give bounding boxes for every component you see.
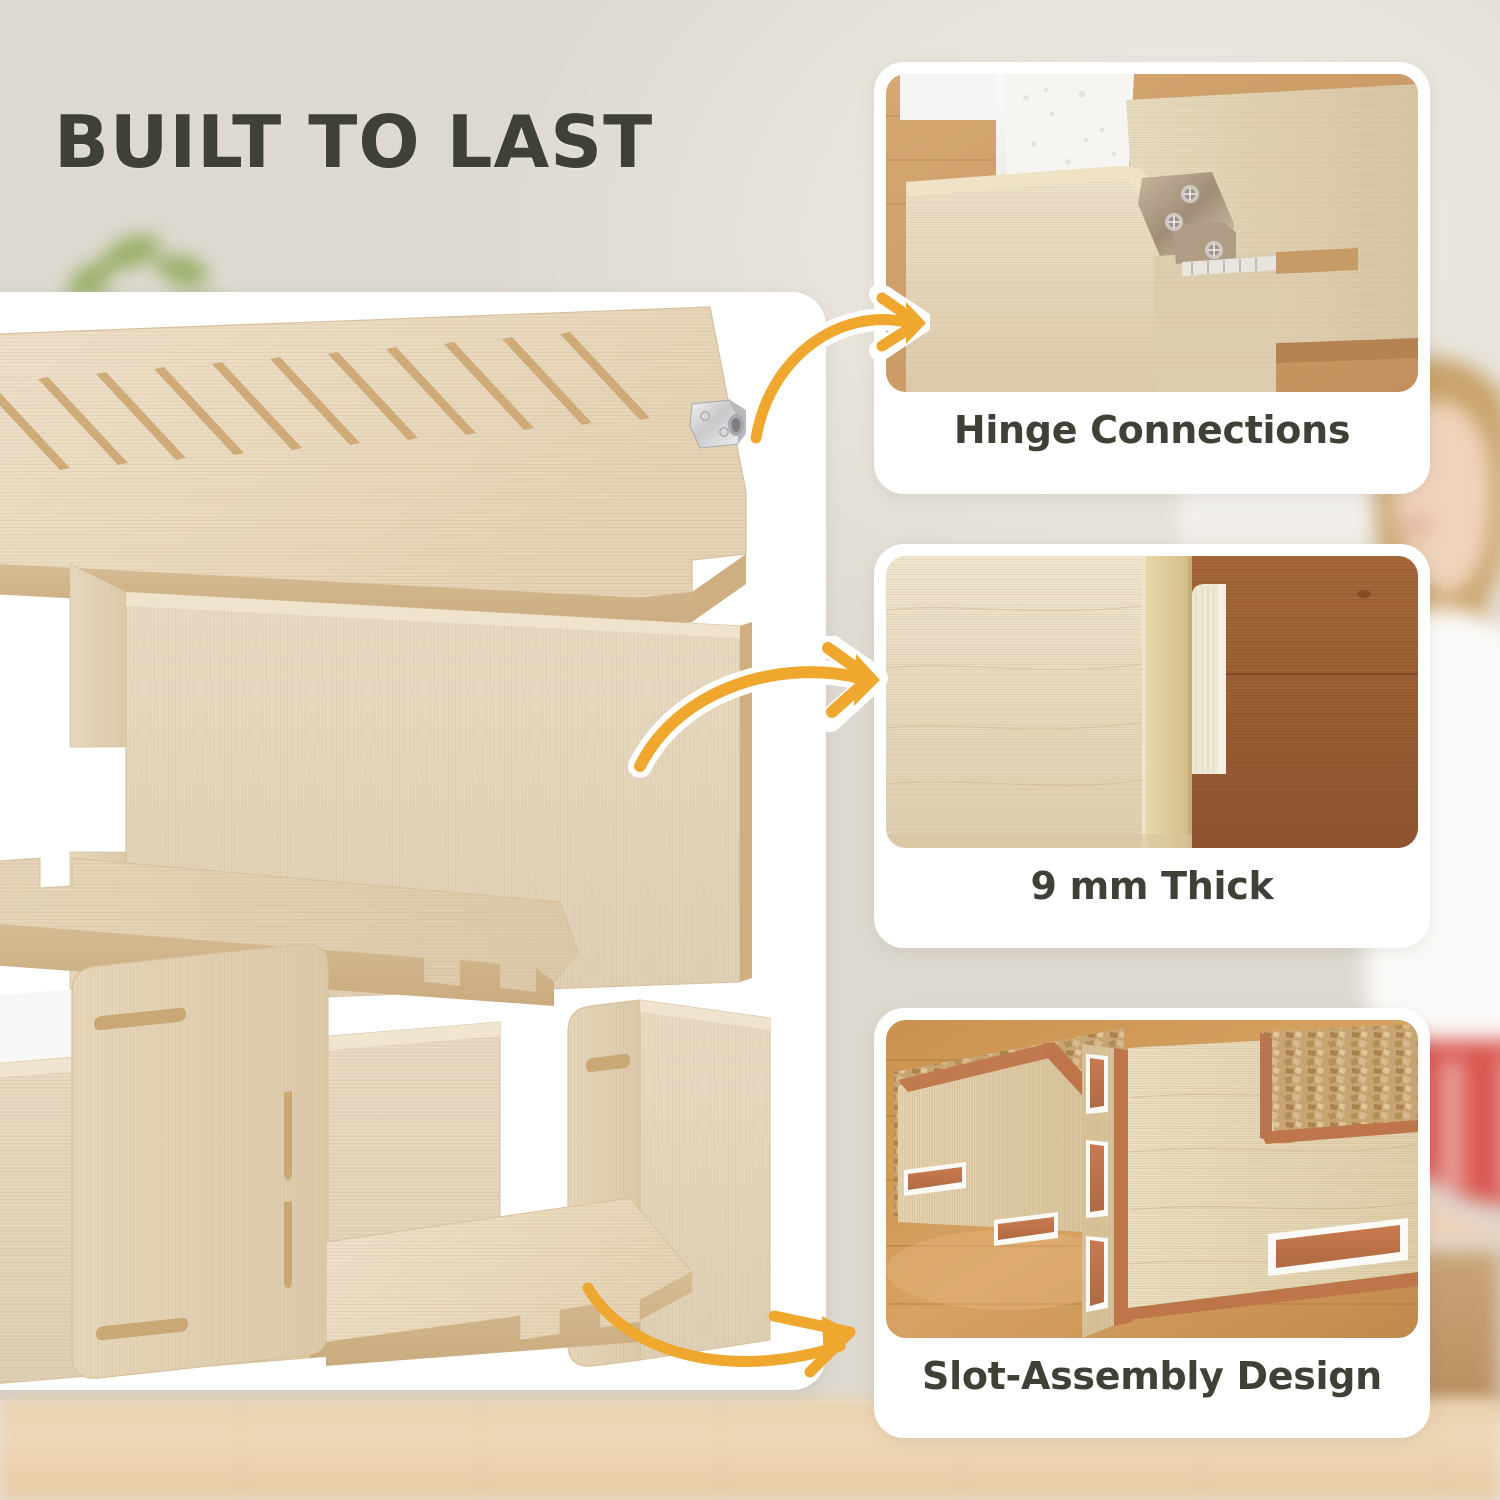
slot-tab <box>1086 1140 1108 1218</box>
lid-hinge-bracket <box>690 400 746 448</box>
callout-card-hinge: Hinge Connections <box>874 62 1430 494</box>
slot-tab <box>1086 1236 1108 1312</box>
slot-tab <box>1086 1054 1108 1114</box>
callout-label-slot: Slot-Assembly Design <box>886 1354 1418 1398</box>
callout-card-thickness: 9 mm Thick <box>874 544 1430 948</box>
callout-label-thickness: 9 mm Thick <box>886 864 1418 908</box>
product-top-lid <box>0 307 800 637</box>
slot-assembly-photo <box>886 1020 1418 1338</box>
hinge-bracket-photo <box>886 74 1418 392</box>
panel-thickness-photo <box>886 556 1418 848</box>
page-title: BUILT TO LAST <box>54 106 653 178</box>
product-side-divider <box>72 944 328 1378</box>
callout-label-hinge: Hinge Connections <box>886 408 1418 452</box>
exploded-product-view <box>0 292 826 1390</box>
callout-card-slot: Slot-Assembly Design <box>874 1008 1430 1438</box>
